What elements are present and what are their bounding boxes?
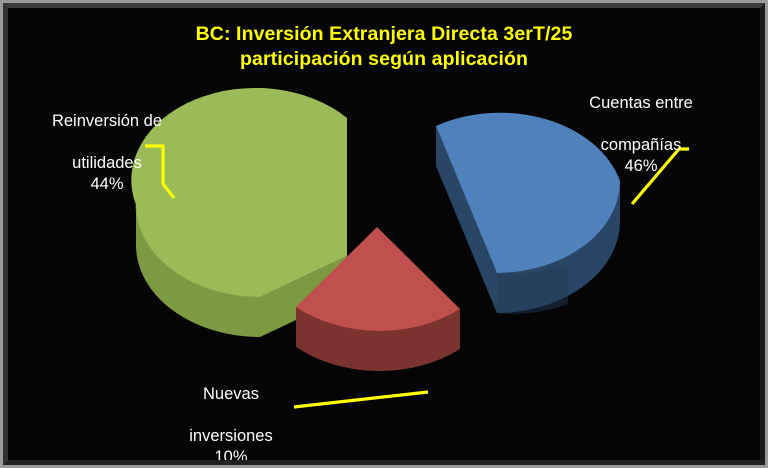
data-label-reinversion-name: Reinversión de [52, 112, 162, 130]
data-label-nuevas-name: Nuevas [203, 385, 259, 403]
data-label-cuentas-entre-companias: Cuentas entre compañías 46% [566, 72, 716, 198]
data-label-cuentas-name: Cuentas entre [589, 94, 693, 112]
data-label-reinversion-name2: utilidades [72, 154, 142, 172]
plot-area[interactable]: BC: Inversión Extranjera Directa 3erT/25… [8, 8, 760, 460]
data-label-reinversion-value: 44% [22, 174, 192, 195]
data-label-cuentas-name2: compañías [601, 136, 682, 154]
data-label-cuentas-value: 46% [566, 156, 716, 177]
data-label-nuevas-inversiones: Nuevas inversiones 10% [151, 363, 311, 465]
data-label-nuevas-value: 10% [151, 447, 311, 465]
data-label-nuevas-name2: inversiones [189, 427, 272, 445]
chart-outer-frame: BC: Inversión Extranjera Directa 3erT/25… [0, 0, 768, 468]
chart-bevel-border: BC: Inversión Extranjera Directa 3erT/25… [3, 3, 765, 465]
leader-line-nuevas [294, 392, 428, 407]
data-label-reinversion-de-utilidades: Reinversión de utilidades 44% [22, 90, 192, 216]
